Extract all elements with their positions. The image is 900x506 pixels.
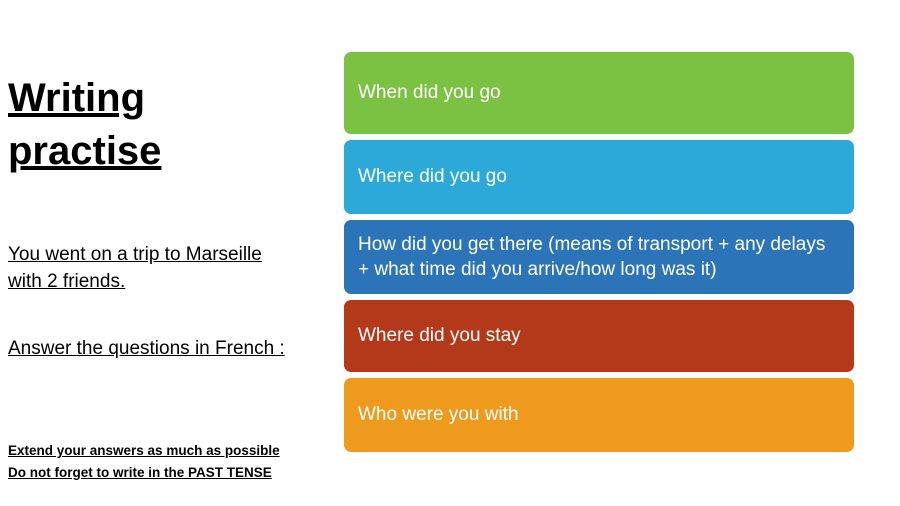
note-line-1: Extend your answers as much as possible (8, 440, 280, 462)
slide-canvas: Writing practise You went on a trip to M… (0, 0, 900, 506)
instruction-line-3: Answer the questions in French : (8, 336, 285, 363)
paragraph-spacer (8, 296, 318, 336)
question-bar-5: Who were you with (344, 378, 854, 452)
question-bar-4: Where did you stay (344, 300, 854, 372)
question-bar-2-label: Where did you go (358, 164, 507, 189)
question-bar-4-label: Where did you stay (358, 323, 521, 348)
question-bar-2: Where did you go (344, 140, 854, 214)
question-bar-3-label: How did you get there (means of transpor… (358, 232, 840, 283)
question-bars-list: When did you go Where did you go How did… (344, 52, 854, 458)
note-line-2: Do not forget to write in the PAST TENSE (8, 462, 272, 484)
question-bar-1-label: When did you go (358, 80, 501, 105)
page-title: Writing practise (8, 72, 308, 178)
instruction-line-1: You went on a trip to Marseille (8, 242, 262, 269)
instructions-block: You went on a trip to Marseille with 2 f… (8, 242, 318, 363)
title-line-2: practise (8, 125, 161, 178)
question-bar-5-label: Who were you with (358, 402, 519, 427)
question-bar-1: When did you go (344, 52, 854, 134)
instruction-line-2: with 2 friends. (8, 269, 125, 296)
title-line-1: Writing (8, 72, 145, 125)
question-bar-3: How did you get there (means of transpor… (344, 220, 854, 294)
footer-notes: Extend your answers as much as possible … (8, 440, 328, 483)
